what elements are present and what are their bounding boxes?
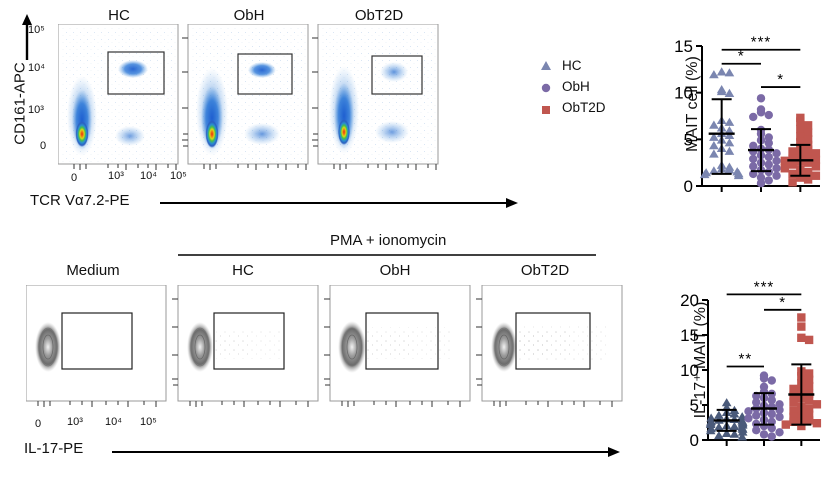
bottom-flow-plots-svg	[26, 285, 626, 425]
bottom-flow-x-axis-label: IL-17-PE	[24, 440, 83, 457]
bottom-flow-panel-title-obh: ObH	[330, 262, 460, 279]
top-flow-ytick-1: 10³	[28, 104, 44, 116]
legend-label-hc: HC	[562, 58, 582, 73]
significance-annotation: *	[761, 71, 800, 88]
svg-text:*: *	[779, 294, 786, 311]
bottom-flow-plot-obh	[324, 285, 470, 407]
top-flow-plot-obt2d	[312, 24, 438, 170]
top-flow-y-arrow	[20, 14, 34, 60]
top-flow-xtick-0: 0	[71, 172, 77, 184]
significance-annotation: ***	[727, 278, 802, 295]
figure-root: CD161-APC 10⁵ 10⁴ 10³ 0 HC ObH ObT2D 5.5…	[0, 0, 824, 483]
bottom-flow-plot-hc	[172, 285, 318, 407]
bottom-flow-xtick-3: 10⁵	[140, 416, 157, 428]
top-flow-plot-obh	[182, 24, 308, 170]
top-flow-ytick-2: 10⁴	[28, 62, 45, 74]
top-flow-panel-title-obt2d: ObT2D	[320, 7, 438, 24]
bottom-flow-xtick-2: 10⁴	[105, 416, 122, 428]
top-flow-x-arrow	[160, 197, 520, 211]
legend-marker-obt2d-square-icon	[540, 104, 552, 116]
significance-annotation: *	[764, 294, 801, 311]
top-flow-plot-hc	[58, 24, 178, 170]
bottom-flow-xtick-1: 10³	[67, 416, 83, 428]
legend-marker-hc-triangle-icon	[540, 60, 552, 72]
legend-label-obt2d: ObT2D	[562, 100, 606, 115]
top-flow-xtick-1: 10³	[108, 170, 124, 182]
y-tick-label: 10	[680, 361, 699, 380]
y-tick-label: 10	[674, 84, 693, 103]
y-tick-label: 15	[674, 37, 693, 56]
bottom-flow-plot-medium	[26, 285, 166, 407]
bottom-flow-group-rule	[178, 253, 598, 257]
legend-label-obh: ObH	[562, 79, 590, 94]
top-flow-y-axis-label: CD161-APC	[12, 44, 29, 164]
svg-text:*: *	[777, 71, 784, 88]
il17-scatter-svg: 05101520******	[668, 258, 824, 458]
y-tick-label: 0	[684, 177, 693, 196]
y-tick-label: 5	[684, 130, 693, 149]
svg-text:***: ***	[751, 34, 772, 51]
mait-scatter-svg: 051015*****	[660, 8, 824, 203]
y-tick-label: 0	[690, 431, 699, 450]
top-flow-xtick-2: 10⁴	[140, 170, 157, 182]
significance-annotation: **	[727, 351, 764, 368]
top-flow-ytick-0: 0	[40, 140, 46, 152]
y-tick-label: 5	[690, 396, 699, 415]
bottom-flow-xtick-0: 0	[35, 418, 41, 430]
significance-annotation: ***	[722, 34, 801, 51]
svg-text:***: ***	[754, 278, 775, 295]
bottom-flow-plot-obt2d	[476, 285, 622, 407]
top-flow-ytick-3: 10⁵	[28, 24, 45, 36]
top-flow-xtick-3: 10⁵	[170, 170, 187, 182]
series-ObH	[749, 94, 781, 187]
bottom-flow-panel-title-hc: HC	[178, 262, 308, 279]
bottom-flow-panel-title-medium: Medium	[28, 262, 158, 279]
svg-text:**: **	[738, 351, 752, 368]
top-flow-plots-svg	[58, 24, 442, 188]
legend-marker-obh-circle-icon	[540, 82, 552, 94]
y-tick-label: 20	[680, 291, 699, 310]
top-flow-panel-title-obh: ObH	[190, 7, 308, 24]
bottom-flow-panel-title-obt2d: ObT2D	[480, 262, 610, 279]
bottom-flow-x-arrow	[112, 446, 622, 460]
y-tick-label: 15	[680, 326, 699, 345]
top-flow-x-axis-label: TCR Vα7.2-PE	[30, 192, 130, 209]
bottom-flow-group-header: PMA + ionomycin	[330, 232, 446, 249]
top-flow-panel-title-hc: HC	[60, 7, 178, 24]
